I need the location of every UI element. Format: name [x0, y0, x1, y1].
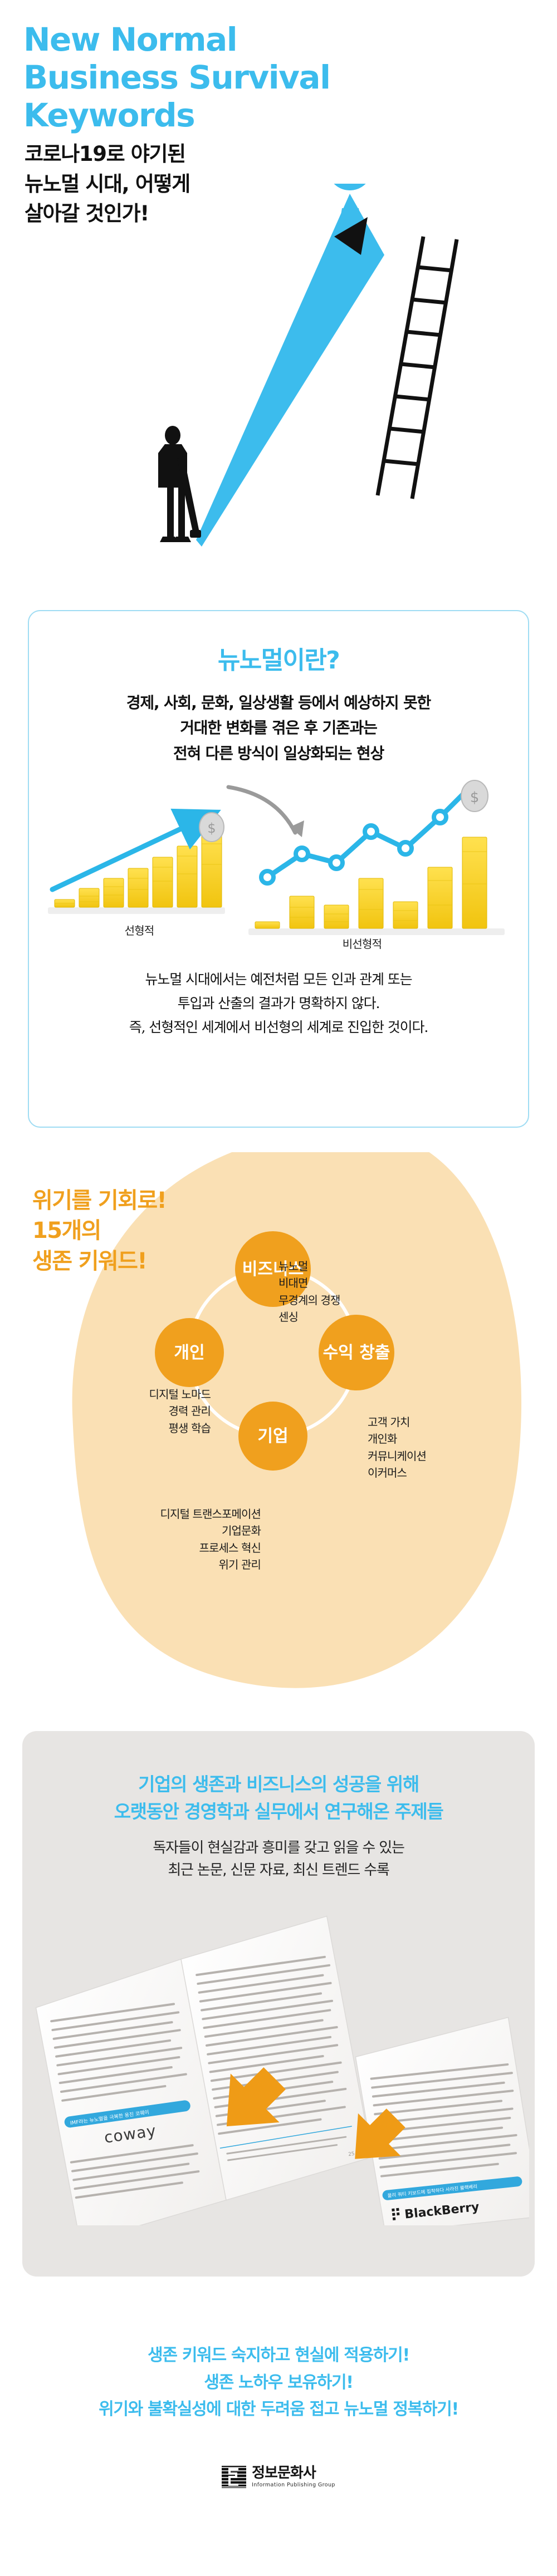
infographic-page: New Normal Business Survival Keywords 코로… [0, 0, 557, 2576]
wheel-node-personal-label: 개인 [174, 1343, 204, 1363]
publisher-name-en: Information Publishing Group [252, 2482, 335, 2488]
publisher-mark-icon [222, 2466, 246, 2488]
svg-text:$: $ [470, 789, 480, 806]
cta-text: 생존 키워드 숙지하고 현실에 적용하기! 생존 노하우 보유하기! 위기와 불… [0, 2299, 557, 2423]
wheel-node-company: 기업 [238, 1402, 307, 1471]
definition-footer-text: 뉴노멀 시대에서는 예전처럼 모든 인과 관계 또는 투입과 산출의 결과가 명… [47, 967, 510, 1039]
hero-illustration [0, 184, 557, 590]
person-silhouette [158, 426, 201, 542]
book-open-left: IMF라는 뉴노멀을 극복한 웅진 코웨이 coway [29, 1915, 378, 2225]
nonlinear-chart-group: $ [248, 780, 505, 935]
keyword-wheel-diagram: 비즈니스 수익 창출 기업 개인 [150, 1230, 395, 1475]
wheel-node-personal: 개인 [155, 1318, 224, 1387]
wheel-node-company-label: 기업 [257, 1427, 288, 1446]
page-number: 25 [348, 2151, 355, 2157]
publisher-logo: 정보문화사 Information Publishing Group [0, 2466, 557, 2488]
showcase-section: 기업의 생존과 비즈니스의 성공을 위해 오랫동안 경영학과 실무에서 연구해온… [0, 1731, 557, 2299]
keyword-group-personal: 디지털 노마드 경력 관리 평생 학습 [55, 1386, 211, 1437]
definition-section: 뉴노멀이란? 경제, 사회, 문화, 일상생활 등에서 예상하지 못한 거대한 … [0, 590, 557, 1152]
book-spread-svg: IMF라는 뉴노멀을 극복한 웅진 코웨이 coway [28, 1891, 529, 2225]
keyword-group-business: 뉴노멀 비대면 무경계의 경쟁 센싱 [278, 1258, 340, 1326]
keyword-group-revenue: 고객 가치 개인화 커뮤니케이션 이커머스 [368, 1414, 426, 1482]
showcase-title: 기업의 생존과 비즈니스의 성공을 위해 오랫동안 경영학과 실무에서 연구해온… [33, 1771, 524, 1826]
dollar-coin-icon-2: $ [461, 780, 488, 812]
ladder-icon [378, 237, 457, 499]
transition-arrow [228, 787, 304, 837]
dollar-coin-icon: $ [199, 813, 224, 842]
wheel-node-revenue: 수익 창출 [319, 1315, 394, 1390]
growth-comparison-svg: $ [45, 778, 512, 945]
svg-text:$: $ [207, 820, 216, 836]
definition-card: 뉴노멀이란? 경제, 사회, 문화, 일상생활 등에서 예상하지 못한 거대한 … [28, 610, 529, 1128]
showcase-subtitle: 독자들이 현실감과 흥미를 갖고 읽을 수 있는 최근 논문, 신문 자료, 최… [33, 1837, 524, 1882]
nonlinear-caption: 비선형적 [306, 935, 418, 951]
keywords-title: 위기를 기회로! 15개의 생존 키워드! [32, 1186, 166, 1276]
showcase-panel: 기업의 생존과 비즈니스의 성공을 위해 오랫동안 경영학과 실무에서 연구해온… [22, 1731, 535, 2277]
wheel-node-revenue-label: 수익 창출 [323, 1343, 390, 1363]
linear-vs-nonlinear-chart: $ [45, 778, 512, 945]
keyword-group-company: 디지털 트랜스포메이션 기업문화 프로세스 혁신 위기 관리 [77, 1506, 261, 1574]
keywords-section: 위기를 기회로! 15개의 생존 키워드! 비즈니스 수익 창출 기업 개인 뉴… [0, 1152, 557, 1731]
publisher-name-ko: 정보문화사 [252, 2466, 316, 2480]
linear-chart-group: $ [48, 813, 225, 914]
page-title: New Normal Business Survival Keywords [23, 21, 330, 135]
definition-title: 뉴노멀이란? [29, 640, 528, 676]
linear-caption: 선형적 [84, 922, 195, 938]
definition-lead-text: 경제, 사회, 문화, 일상생활 등에서 예상하지 못한 거대한 변화를 겪은 … [45, 690, 512, 766]
book-spread-photos: IMF라는 뉴노멀을 극복한 웅진 코웨이 coway [28, 1891, 529, 2225]
cta-section: 생존 키워드 숙지하고 현실에 적용하기! 생존 노하우 보유하기! 위기와 불… [0, 2299, 557, 2576]
hero-section: New Normal Business Survival Keywords 코로… [0, 0, 557, 590]
